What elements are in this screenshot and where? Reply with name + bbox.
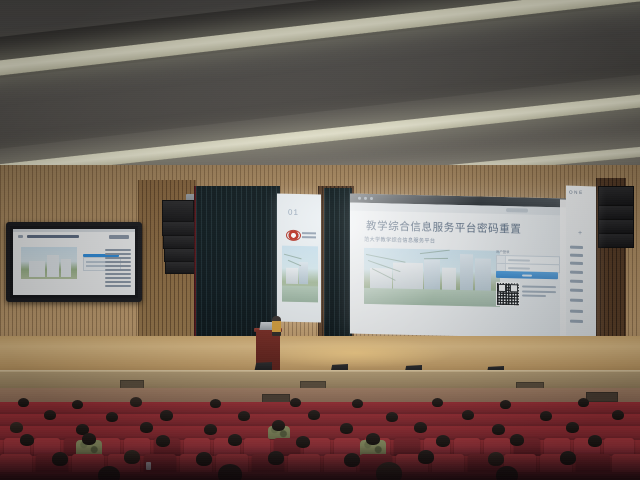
slide-subtitle: 范大学教学综合信息服务平台: [364, 236, 435, 245]
audience-head: [82, 433, 96, 445]
login-form-header: 用户登录: [496, 249, 510, 254]
audience-head: [272, 420, 285, 431]
audience-head: [340, 423, 353, 434]
audience-head: [106, 412, 118, 422]
speaker-cabinet: [163, 235, 196, 249]
browser-address-pill: [506, 208, 528, 212]
right-side-panel: ONE +: [566, 185, 596, 336]
audience-head: [492, 424, 505, 435]
qr-code: [496, 282, 520, 307]
audience-head: [140, 422, 153, 433]
username-placeholder: [508, 259, 530, 261]
speaker-cabinet: [598, 219, 634, 234]
audience-head: [18, 398, 29, 407]
right-panel-item: [570, 299, 583, 302]
audience-head: [10, 422, 23, 433]
browser-dot: [370, 197, 373, 200]
slide-section-number: 01: [288, 208, 299, 217]
audience-head: [44, 410, 56, 420]
right-panel-item: [570, 254, 583, 257]
browser-dot: [358, 197, 361, 200]
auditorium-scene: 01 教学综合信息服务平台密码重置 范大学教学综合信息服务平台: [0, 0, 640, 480]
right-panel-item: [570, 246, 583, 249]
audience-head: [160, 410, 173, 421]
audience-head: [578, 398, 589, 407]
audience-head: [540, 411, 552, 421]
university-emblem-icon: [286, 230, 301, 241]
right-panel-item: [570, 289, 583, 292]
audience-head: [210, 399, 221, 408]
right-panel-item: [570, 271, 583, 274]
slide-campus-photo: [282, 246, 318, 303]
speaker-cabinet: [598, 186, 634, 206]
speaker-cabinet: [162, 221, 195, 236]
stage-curtain-right: [324, 188, 352, 336]
presenter: [272, 316, 281, 336]
audience-head: [500, 400, 511, 409]
qr-caption: [522, 285, 556, 299]
speaker-cabinet: [162, 200, 194, 222]
display-title-line: [27, 235, 79, 238]
audience-head: [308, 410, 320, 420]
audience-head: [386, 412, 398, 422]
display-browser-bar: [13, 229, 135, 232]
line-array-speaker-right: [598, 186, 632, 264]
right-panel-item: [570, 262, 583, 265]
wall-vent: [586, 392, 618, 402]
university-name-text: [302, 232, 316, 240]
audience-head: [130, 397, 142, 407]
display-campus-photo: [21, 247, 77, 279]
slide-title: 教学综合信息服务平台密码重置: [366, 218, 521, 237]
audience-head: [352, 399, 363, 408]
audience-head: [612, 410, 624, 420]
audience-head: [414, 422, 427, 433]
display-text-block: [105, 249, 131, 289]
display-logo: [109, 235, 129, 239]
browser-dot: [364, 197, 367, 200]
audience-head: [566, 422, 579, 433]
audience-area: [0, 388, 640, 480]
audience-head: [20, 434, 34, 446]
speaker-cabinet: [598, 233, 634, 248]
audience-head: [462, 410, 474, 420]
slide-section-panel: 01: [277, 194, 321, 323]
projection-screen: 教学综合信息服务平台密码重置 范大学教学综合信息服务平台 用户登录: [350, 194, 568, 339]
audience-head: [510, 434, 524, 446]
foreground-shadow: [0, 446, 640, 480]
password-placeholder: [508, 267, 530, 269]
right-panel-item: [570, 320, 583, 323]
login-form[interactable]: 用户登录: [496, 249, 558, 308]
audience-head: [204, 424, 217, 435]
right-panel-plus: +: [578, 230, 582, 237]
wall-display-screen: [13, 229, 135, 295]
waterfront: [364, 288, 500, 307]
stage-light-pool: [255, 338, 455, 368]
login-submit-button[interactable]: [496, 271, 558, 279]
display-section-number: [18, 235, 23, 238]
wall-mounted-display: [6, 222, 142, 302]
audience-head: [290, 398, 301, 407]
speaker-cabinet: [164, 248, 197, 262]
speaker-cabinet: [598, 205, 634, 220]
right-panel-label: ONE: [569, 190, 584, 196]
campus-photo: [364, 248, 500, 307]
audience-head: [72, 400, 83, 409]
audience-head: [238, 411, 250, 421]
right-panel-item: [570, 310, 583, 313]
audience-head: [228, 434, 242, 446]
audience-head: [432, 398, 443, 407]
right-panel-item: [570, 280, 583, 283]
audience-head: [366, 433, 380, 445]
